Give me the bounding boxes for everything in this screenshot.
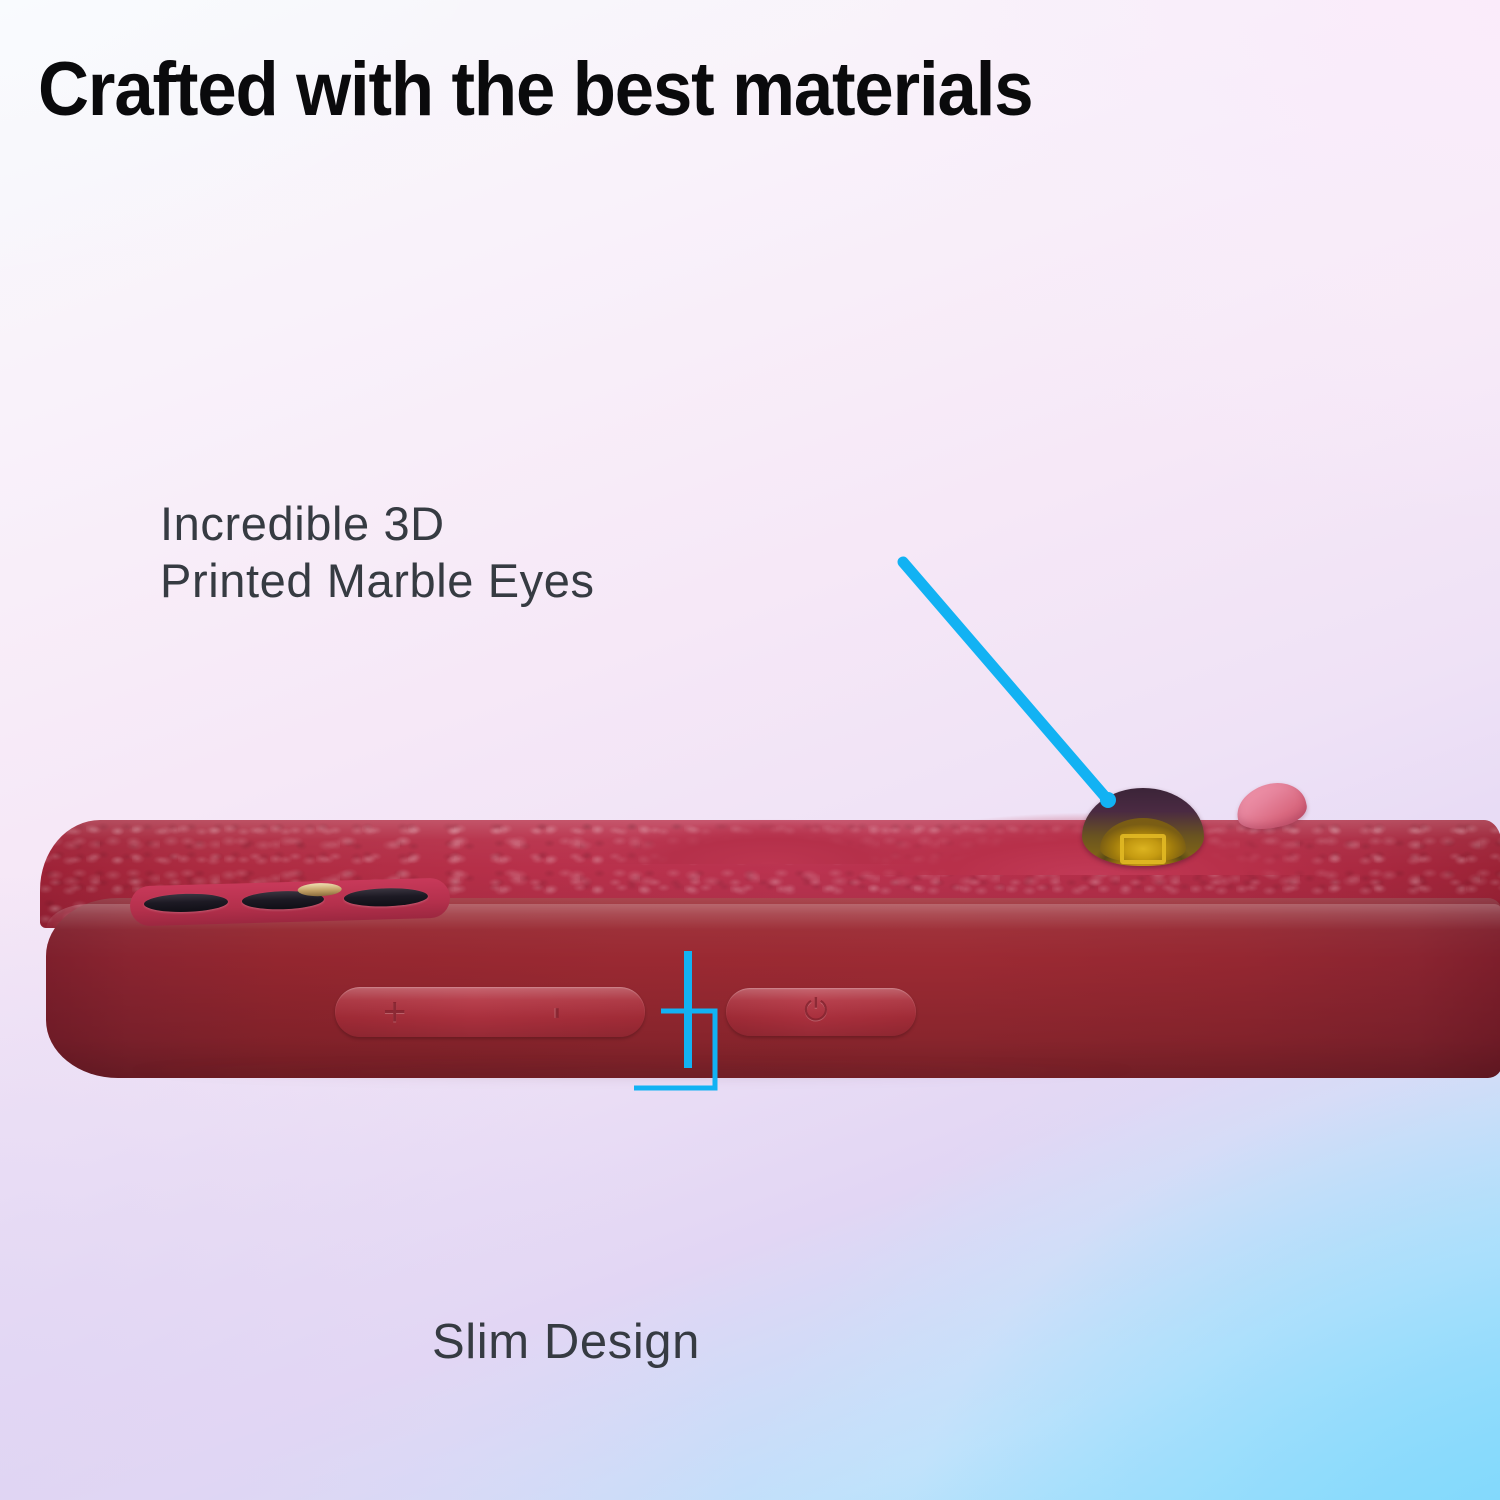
callout-label-marble-eyes: Incredible 3D Printed Marble Eyes xyxy=(160,495,595,610)
callout-label-slim-design: Slim Design xyxy=(432,1313,700,1373)
3d-marble-eye xyxy=(1082,788,1204,866)
plus-icon: + xyxy=(383,992,406,1032)
product-feature-image: Crafted with the best materials + - ⏻ xyxy=(0,0,1500,1500)
product-photo: + - ⏻ xyxy=(0,700,1500,1120)
eye-detail xyxy=(1120,834,1166,864)
volume-button: + - xyxy=(335,987,645,1037)
page-title: Crafted with the best materials xyxy=(38,46,1032,133)
minus-icon: - xyxy=(540,1006,580,1019)
case-drop-shadow xyxy=(60,1068,1490,1094)
power-icon: ⏻ xyxy=(804,996,828,1026)
power-button: ⏻ xyxy=(726,988,916,1036)
